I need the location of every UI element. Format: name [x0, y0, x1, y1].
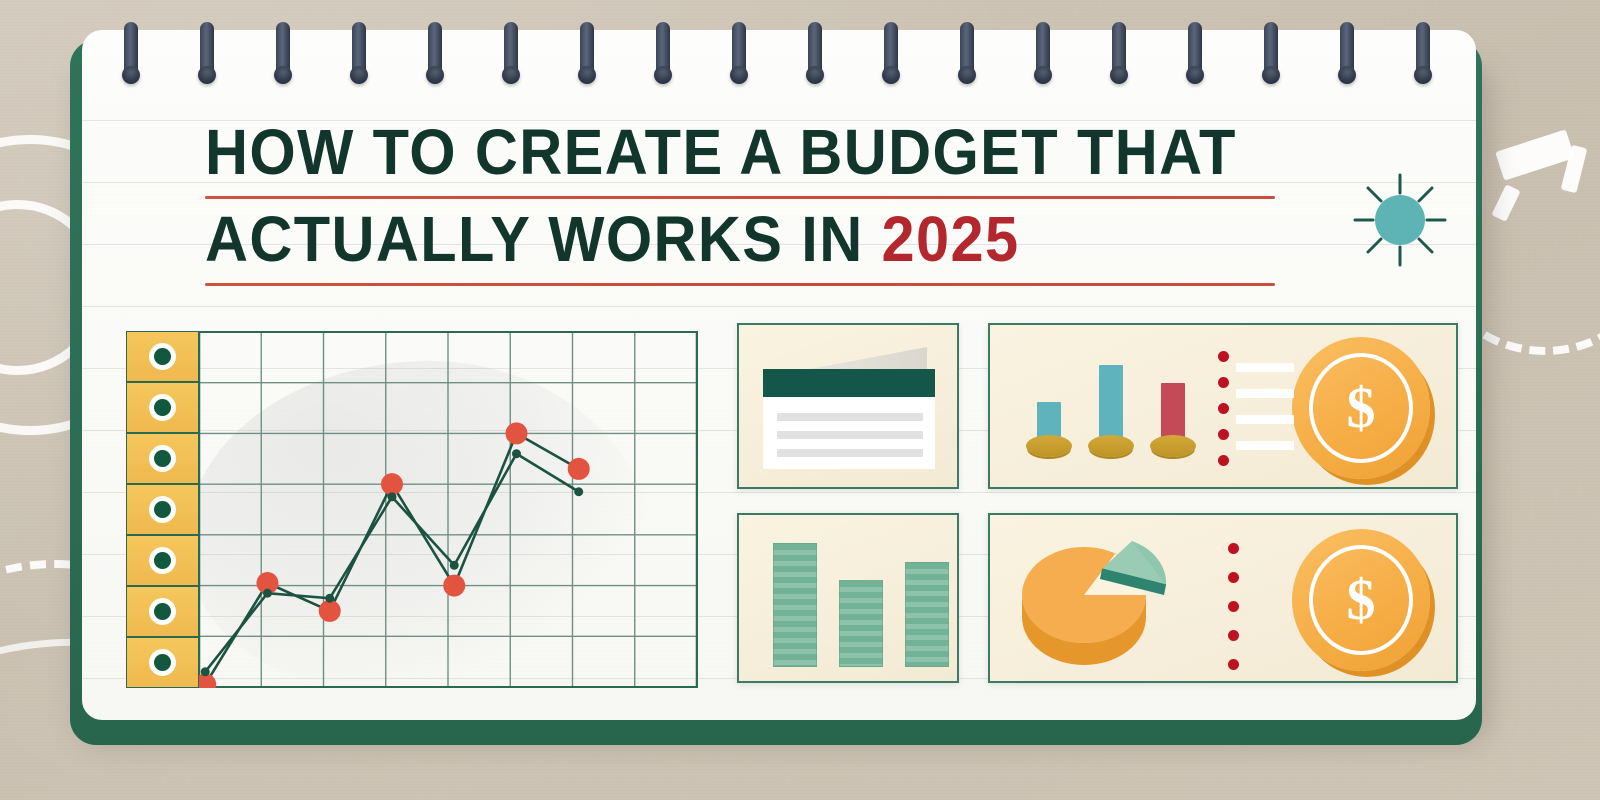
data-point-marker-actual[interactable]: [387, 492, 396, 501]
spiral-ring-hole: [198, 66, 216, 84]
data-point-marker-planned[interactable]: [443, 575, 465, 597]
bullet-dot-3: [1218, 403, 1229, 414]
green-bar-3: [905, 562, 949, 667]
spiral-ring-hole: [1034, 66, 1052, 84]
bullet-dot-4: [1228, 630, 1239, 641]
pie-card-inner: $: [990, 515, 1456, 681]
spiral-ring-hole: [730, 66, 748, 84]
data-point-marker-planned[interactable]: [381, 473, 403, 495]
list-line-3: [1236, 415, 1294, 424]
pie-card[interactable]: $: [988, 513, 1458, 683]
legend-dot-core: [154, 552, 171, 569]
title-rule-bottom: [205, 283, 1275, 286]
line-chart-panel[interactable]: [126, 331, 698, 688]
data-point-marker-planned[interactable]: [505, 422, 527, 444]
coin-ring: $: [1309, 353, 1414, 464]
kpi-bar-column-3: [1142, 337, 1204, 457]
data-point-marker-actual[interactable]: [512, 449, 521, 458]
bullet-dot-2: [1218, 377, 1229, 388]
legend-cell-6[interactable]: [126, 586, 199, 637]
spiral-ring-hole: [882, 66, 900, 84]
spiral-ring-hole: [1414, 66, 1432, 84]
document-text-line: [777, 449, 923, 457]
legend-dot-core: [154, 603, 171, 620]
legend-dot-core: [154, 501, 171, 518]
kpi-bar-column-2: [1080, 337, 1142, 457]
data-point-marker-actual[interactable]: [574, 487, 583, 496]
kpi-bar-base-2: [1088, 435, 1134, 457]
kpi-card-inner: $: [990, 325, 1456, 487]
legend-dot-icon: [149, 496, 176, 523]
kpi-bar-column-1: [1018, 337, 1080, 457]
document-header-bar: [763, 369, 935, 397]
sun-icon: [1345, 165, 1455, 275]
spiral-ring-hole: [1262, 66, 1280, 84]
green-bar-1: [773, 543, 817, 667]
bar-chart-card-inner: [739, 515, 957, 681]
bullet-dot-1: [1218, 351, 1229, 362]
legend-cell-1[interactable]: [126, 331, 199, 382]
legend-cell-3[interactable]: [126, 433, 199, 484]
coin-icon: $: [1292, 337, 1430, 479]
list-line-1: [1236, 363, 1294, 372]
legend-dot-icon: [149, 343, 176, 370]
document-card[interactable]: [737, 323, 959, 489]
bullet-dot-1: [1228, 543, 1239, 554]
kpi-card[interactable]: $: [988, 323, 1458, 489]
title-line-2-text: ACTUALLY WORKS IN: [205, 203, 882, 275]
data-point-marker-actual[interactable]: [450, 561, 459, 570]
legend-dot-core: [154, 654, 171, 671]
legend-dot-icon: [149, 445, 176, 472]
spiral-ring-hole: [274, 66, 292, 84]
bullet-dot-5: [1228, 659, 1239, 670]
bar-chart-card[interactable]: [737, 513, 959, 683]
green-bar-2: [839, 580, 883, 667]
spiral-ring-hole: [1338, 66, 1356, 84]
list-line-4: [1236, 441, 1294, 450]
spiral-ring-hole: [502, 66, 520, 84]
legend-dot-core: [154, 348, 171, 365]
spiral-ring-hole: [958, 66, 976, 84]
legend-dot-core: [154, 399, 171, 416]
bullet-dot-3: [1228, 601, 1239, 612]
spiral-ring-hole: [654, 66, 672, 84]
legend-cell-2[interactable]: [126, 382, 199, 433]
data-point-marker-planned[interactable]: [568, 458, 590, 480]
title-line-2: ACTUALLY WORKS IN 2025: [205, 207, 1200, 279]
legend-dot-icon: [149, 598, 176, 625]
spiral-ring-hole: [426, 66, 444, 84]
page-title: HOW TO CREATE A BUDGET THAT ACTUALLY WOR…: [205, 120, 1275, 294]
list-line-2: [1236, 389, 1294, 398]
bullet-dot-4: [1218, 429, 1229, 440]
legend-dot-icon: [149, 394, 176, 421]
spiral-ring-hole: [578, 66, 596, 84]
legend-dot-icon: [149, 649, 176, 676]
legend-cell-5[interactable]: [126, 535, 199, 586]
title-year: 2025: [882, 203, 1020, 275]
spiral-ring-hole: [1110, 66, 1128, 84]
legend-dot-icon: [149, 547, 176, 574]
document-text-line: [777, 413, 923, 421]
legend-cell-4[interactable]: [126, 484, 199, 535]
data-point-marker-planned[interactable]: [319, 600, 341, 622]
chart-series-group: [194, 422, 589, 688]
spiral-ring-hole: [122, 66, 140, 84]
legend-cell-7[interactable]: [126, 637, 199, 688]
title-rule-top: [205, 196, 1275, 199]
data-point-marker-actual[interactable]: [325, 594, 334, 603]
bullet-dot-5: [1218, 455, 1229, 466]
title-line-1: HOW TO CREATE A BUDGET THAT: [205, 120, 1200, 192]
kpi-bar-base-3: [1150, 435, 1196, 457]
coin-icon: $: [1292, 529, 1430, 671]
spiral-binding: [0, 0, 1600, 110]
spiral-ring-hole: [350, 66, 368, 84]
pie-chart-icon: [1014, 533, 1204, 669]
document-card-inner: [739, 325, 957, 487]
spiral-ring-hole: [1186, 66, 1204, 84]
dollar-sign-icon: $: [1347, 571, 1376, 629]
coin-ring: $: [1309, 545, 1414, 656]
legend-dot-core: [154, 450, 171, 467]
document-text-line: [777, 431, 923, 439]
kpi-bar-base-1: [1026, 435, 1072, 457]
chart-grid-and-series: [126, 331, 698, 688]
dollar-sign-icon: $: [1347, 379, 1376, 437]
chart-legend-column[interactable]: [126, 331, 199, 688]
document-body: [763, 397, 935, 469]
bullet-dot-2: [1228, 572, 1239, 583]
data-point-marker-actual[interactable]: [263, 589, 272, 598]
spiral-ring-hole: [806, 66, 824, 84]
data-point-marker-actual[interactable]: [201, 667, 210, 676]
chart-gridlines: [199, 332, 697, 687]
